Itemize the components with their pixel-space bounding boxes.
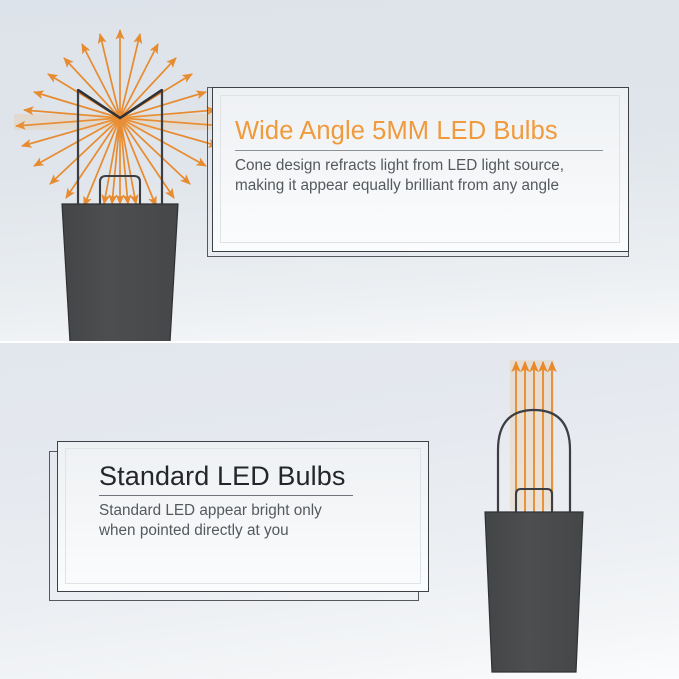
subtitle-line-1: Standard LED appear bright only xyxy=(99,502,322,519)
card-content: Wide Angle 5MM LED Bulbs Cone design ref… xyxy=(235,117,615,197)
standard-led-title: Standard LED Bulbs xyxy=(99,461,409,492)
comparison-graphic: Wide Angle 5MM LED Bulbs Cone design ref… xyxy=(0,0,679,679)
standard-led-panel: Standard LED Bulbs Standard LED appear b… xyxy=(0,343,679,679)
standard-led-bulb xyxy=(448,352,648,679)
wide-angle-panel: Wide Angle 5MM LED Bulbs Cone design ref… xyxy=(0,0,679,341)
subtitle-line-1: Cone design refracts light from LED ligh… xyxy=(235,157,564,174)
bulb-base xyxy=(485,512,583,672)
subtitle-line-2: making it appear equally brilliant from … xyxy=(235,177,559,194)
title-divider xyxy=(235,150,603,151)
wide-angle-led-bulb xyxy=(0,14,240,341)
standard-led-subtitle: Standard LED appear bright only when poi… xyxy=(99,501,409,542)
card-content: Standard LED Bulbs Standard LED appear b… xyxy=(99,461,409,542)
standard-led-text-card: Standard LED Bulbs Standard LED appear b… xyxy=(49,441,429,601)
bulb-base xyxy=(62,204,178,341)
wide-angle-subtitle: Cone design refracts light from LED ligh… xyxy=(235,156,615,197)
wide-angle-text-card: Wide Angle 5MM LED Bulbs Cone design ref… xyxy=(207,87,629,257)
title-divider xyxy=(99,495,353,496)
wide-angle-title: Wide Angle 5MM LED Bulbs xyxy=(235,117,615,146)
subtitle-line-2: when pointed directly at you xyxy=(99,522,289,539)
